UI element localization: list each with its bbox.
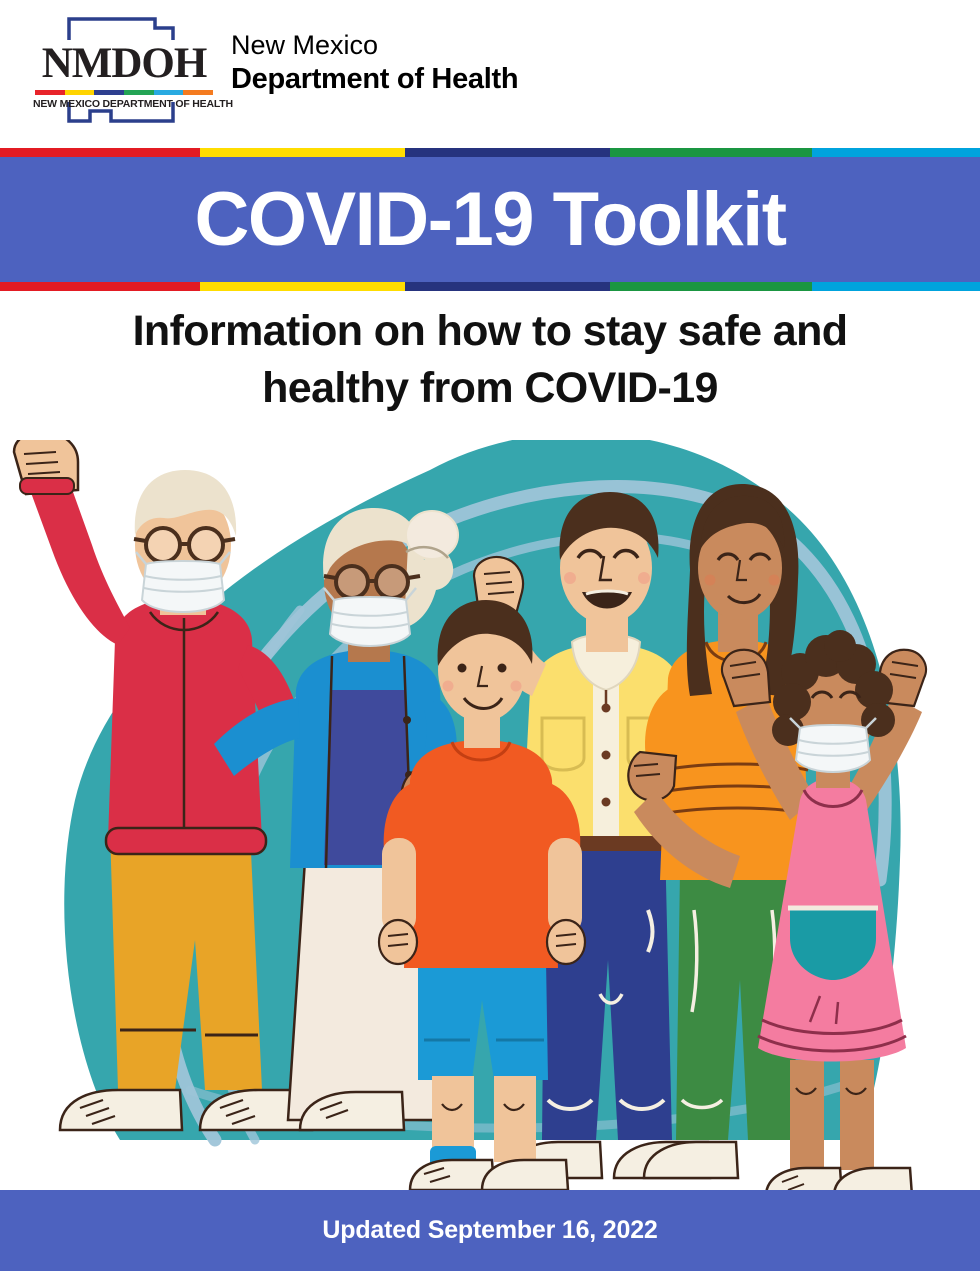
stripe-yellow: [200, 282, 405, 291]
subtitle-line2: healthy from COVID-19: [50, 360, 930, 417]
cover-page: NMDOH NEW MEXICO DEPARTMENT OF HEALTH Ne…: [0, 0, 980, 1271]
page-subtitle: Information on how to stay safe and heal…: [50, 303, 930, 417]
stripe-navy: [405, 282, 610, 291]
subtitle-line1: Information on how to stay safe and: [50, 303, 930, 360]
title-banner: COVID-19 Toolkit: [0, 148, 980, 291]
nmdoh-logo: NMDOH NEW MEXICO DEPARTMENT OF HEALTH: [33, 14, 215, 126]
banner-stripes-bottom: [0, 282, 980, 291]
page-title: COVID-19 Toolkit: [0, 148, 980, 291]
logo-color-bar: [35, 90, 213, 95]
page-footer: Updated September 16, 2022: [0, 1190, 980, 1271]
logo-wordmark: NMDOH: [33, 42, 215, 85]
stripe-green: [610, 282, 812, 291]
department-name-line2: Department of Health: [231, 62, 518, 96]
stripe-lightblue: [812, 282, 980, 291]
stripe-red: [0, 282, 200, 291]
family-illustration-svg: [0, 440, 980, 1195]
updated-date: Updated September 16, 2022: [322, 1216, 657, 1245]
department-name: New Mexico Department of Health: [231, 30, 518, 96]
page-header: NMDOH NEW MEXICO DEPARTMENT OF HEALTH Ne…: [0, 0, 980, 148]
logo-tagline: NEW MEXICO DEPARTMENT OF HEALTH: [33, 98, 215, 110]
illustration: [0, 440, 980, 1195]
department-name-line1: New Mexico: [231, 30, 518, 62]
